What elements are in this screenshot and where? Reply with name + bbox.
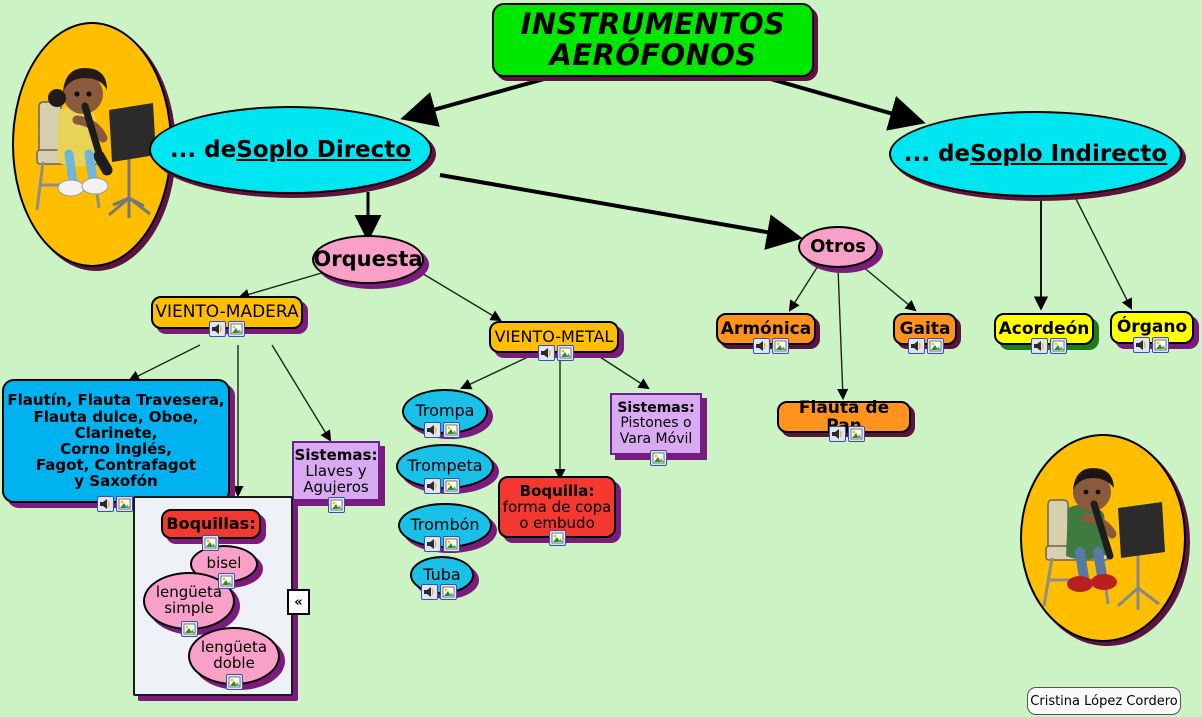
map-title: INSTRUMENTOS AERÓFONOS — [492, 3, 814, 77]
illustration-girl-playing-clarinet — [12, 22, 172, 267]
media-icons-trompa — [424, 422, 460, 438]
picture-icon[interactable] — [116, 496, 133, 512]
node-viento-madera-label: VIENTO-MADERA — [155, 303, 298, 321]
author-credit: Cristina López Cordero — [1027, 687, 1181, 715]
picture-icon[interactable] — [440, 584, 457, 600]
node-soplo-directo-label: Soplo Directo — [236, 138, 411, 162]
picture-icon[interactable] — [226, 674, 243, 690]
picture-icon[interactable] — [848, 426, 865, 442]
node-acordeon-label: Acordeón — [999, 320, 1090, 338]
media-icons-lengueta-doble — [226, 674, 243, 690]
picture-icon[interactable] — [218, 573, 235, 589]
node-armonica-label: Armónica — [721, 320, 811, 338]
speaker-icon[interactable] — [908, 338, 925, 354]
map-title-line2: AERÓFONOS — [549, 40, 756, 71]
sistemas-metal-line: Pistones o — [620, 416, 691, 431]
node-lengueta-doble-line2: doble — [213, 656, 255, 672]
collapse-panel-button[interactable]: « — [287, 589, 310, 615]
node-sistemas-madera[interactable]: Sistemas: Llaves y Agujeros — [292, 441, 380, 501]
picture-icon[interactable] — [772, 338, 789, 354]
list-line: Flautín, Flauta Travesera, — [7, 392, 224, 408]
girl-playing-clarinet-icon — [17, 50, 167, 265]
speaker-icon[interactable] — [424, 536, 441, 552]
node-bisel-label: bisel — [207, 556, 242, 572]
picture-icon[interactable] — [228, 321, 245, 337]
node-soplo-directo[interactable]: ... de Soplo Directo — [149, 106, 432, 194]
media-icons-lengueta-simple — [181, 621, 198, 637]
picture-icon[interactable] — [557, 345, 574, 361]
speaker-icon[interactable] — [209, 321, 226, 337]
sistemas-madera-line: Llaves y — [305, 463, 366, 479]
media-icons-organo — [1133, 337, 1169, 353]
media-icons-gaita — [908, 338, 944, 354]
speaker-icon[interactable] — [1133, 337, 1150, 353]
media-icons-armonica — [753, 338, 789, 354]
picture-icon[interactable] — [1152, 337, 1169, 353]
picture-icon[interactable] — [443, 536, 460, 552]
sistemas-metal-line: Vara Móvil — [620, 432, 693, 447]
speaker-icon[interactable] — [538, 345, 555, 361]
picture-icon[interactable] — [927, 338, 944, 354]
speaker-icon[interactable] — [829, 426, 846, 442]
speaker-icon[interactable] — [1031, 338, 1048, 354]
sistemas-madera-heading: Sistemas: — [295, 447, 378, 463]
node-sistemas-metal[interactable]: Sistemas: Pistones o Vara Móvil — [610, 393, 702, 455]
node-soplo-directo-prefix: ... de — [170, 138, 236, 162]
sistemas-madera-line: Agujeros — [303, 479, 369, 495]
chevron-double-left-icon: « — [294, 595, 302, 610]
media-icons-acordeon — [1031, 338, 1067, 354]
node-madera-instrument-list[interactable]: Flautín, Flauta Travesera, Flauta dulce,… — [2, 379, 230, 503]
node-orquesta-label: Orquesta — [313, 248, 422, 270]
list-line: Clarinete, — [75, 425, 158, 441]
node-lengueta-simple-line2: simple — [164, 601, 214, 617]
list-line: Corno Inglés, — [60, 441, 172, 457]
picture-icon[interactable] — [443, 422, 460, 438]
list-line: Fagot, Contrafagot — [36, 457, 196, 473]
picture-icon[interactable] — [1050, 338, 1067, 354]
media-icons-viento-metal — [538, 345, 574, 361]
speaker-icon[interactable] — [421, 584, 438, 600]
speaker-icon[interactable] — [424, 422, 441, 438]
illustration-boy-playing-clarinet — [1020, 434, 1186, 642]
node-viento-metal-label: VIENTO-METAL — [495, 328, 614, 345]
node-boquilla-metal[interactable]: Boquilla: forma de copa o embudo — [498, 476, 616, 538]
media-icons-viento-madera — [209, 321, 245, 337]
media-icons-trompeta — [424, 478, 460, 494]
author-credit-label: Cristina López Cordero — [1030, 694, 1177, 709]
map-title-line1: INSTRUMENTOS — [521, 9, 786, 40]
node-trompa-label: Trompa — [416, 403, 475, 420]
boquilla-metal-heading: Boquilla: — [520, 483, 595, 499]
node-soplo-indirecto[interactable]: ... de Soplo Indirecto — [889, 111, 1182, 197]
media-icons-sistemas-madera — [328, 497, 345, 513]
node-soplo-indirecto-label: Soplo Indirecto — [970, 142, 1167, 166]
node-trombon-label: Trombón — [410, 517, 479, 534]
picture-icon[interactable] — [202, 535, 219, 551]
picture-icon[interactable] — [443, 478, 460, 494]
media-icons-boquillas — [202, 535, 219, 551]
node-tuba-label: Tuba — [423, 567, 460, 584]
boquillas-heading-label: Boquillas: — [166, 515, 255, 532]
speaker-icon[interactable] — [97, 496, 114, 512]
media-icons-flauta-de-pan — [829, 426, 865, 442]
speaker-icon[interactable] — [424, 478, 441, 494]
picture-icon[interactable] — [328, 497, 345, 513]
speaker-icon[interactable] — [753, 338, 770, 354]
media-icons-trombon — [424, 536, 460, 552]
list-line: Flauta dulce, Oboe, — [34, 409, 199, 425]
boquilla-metal-line: o embudo — [519, 515, 595, 531]
media-icons-bisel — [218, 573, 235, 589]
media-icons-boquilla-metal — [549, 530, 566, 546]
picture-icon[interactable] — [650, 450, 667, 466]
list-line: y Saxofón — [74, 473, 157, 489]
node-gaita-label: Gaita — [900, 320, 951, 338]
node-orquesta[interactable]: Orquesta — [312, 235, 424, 284]
media-icons-madera-list — [97, 496, 133, 512]
node-soplo-indirecto-prefix: ... de — [904, 142, 970, 166]
picture-icon[interactable] — [181, 621, 198, 637]
media-icons-sistemas-metal — [650, 450, 667, 466]
node-otros-label: Otros — [810, 238, 866, 257]
node-trompeta-label: Trompeta — [407, 458, 482, 475]
concept-map-canvas: INSTRUMENTOS AERÓFONOS ... de Soplo Dire… — [0, 0, 1202, 717]
boquilla-metal-line: forma de copa — [503, 499, 612, 515]
node-otros[interactable]: Otros — [798, 226, 878, 268]
sistemas-metal-heading: Sistemas: — [617, 401, 694, 416]
picture-icon[interactable] — [549, 530, 566, 546]
node-organo-label: Órgano — [1117, 318, 1187, 336]
boy-playing-clarinet-icon — [1028, 460, 1178, 640]
media-icons-tuba — [421, 584, 457, 600]
